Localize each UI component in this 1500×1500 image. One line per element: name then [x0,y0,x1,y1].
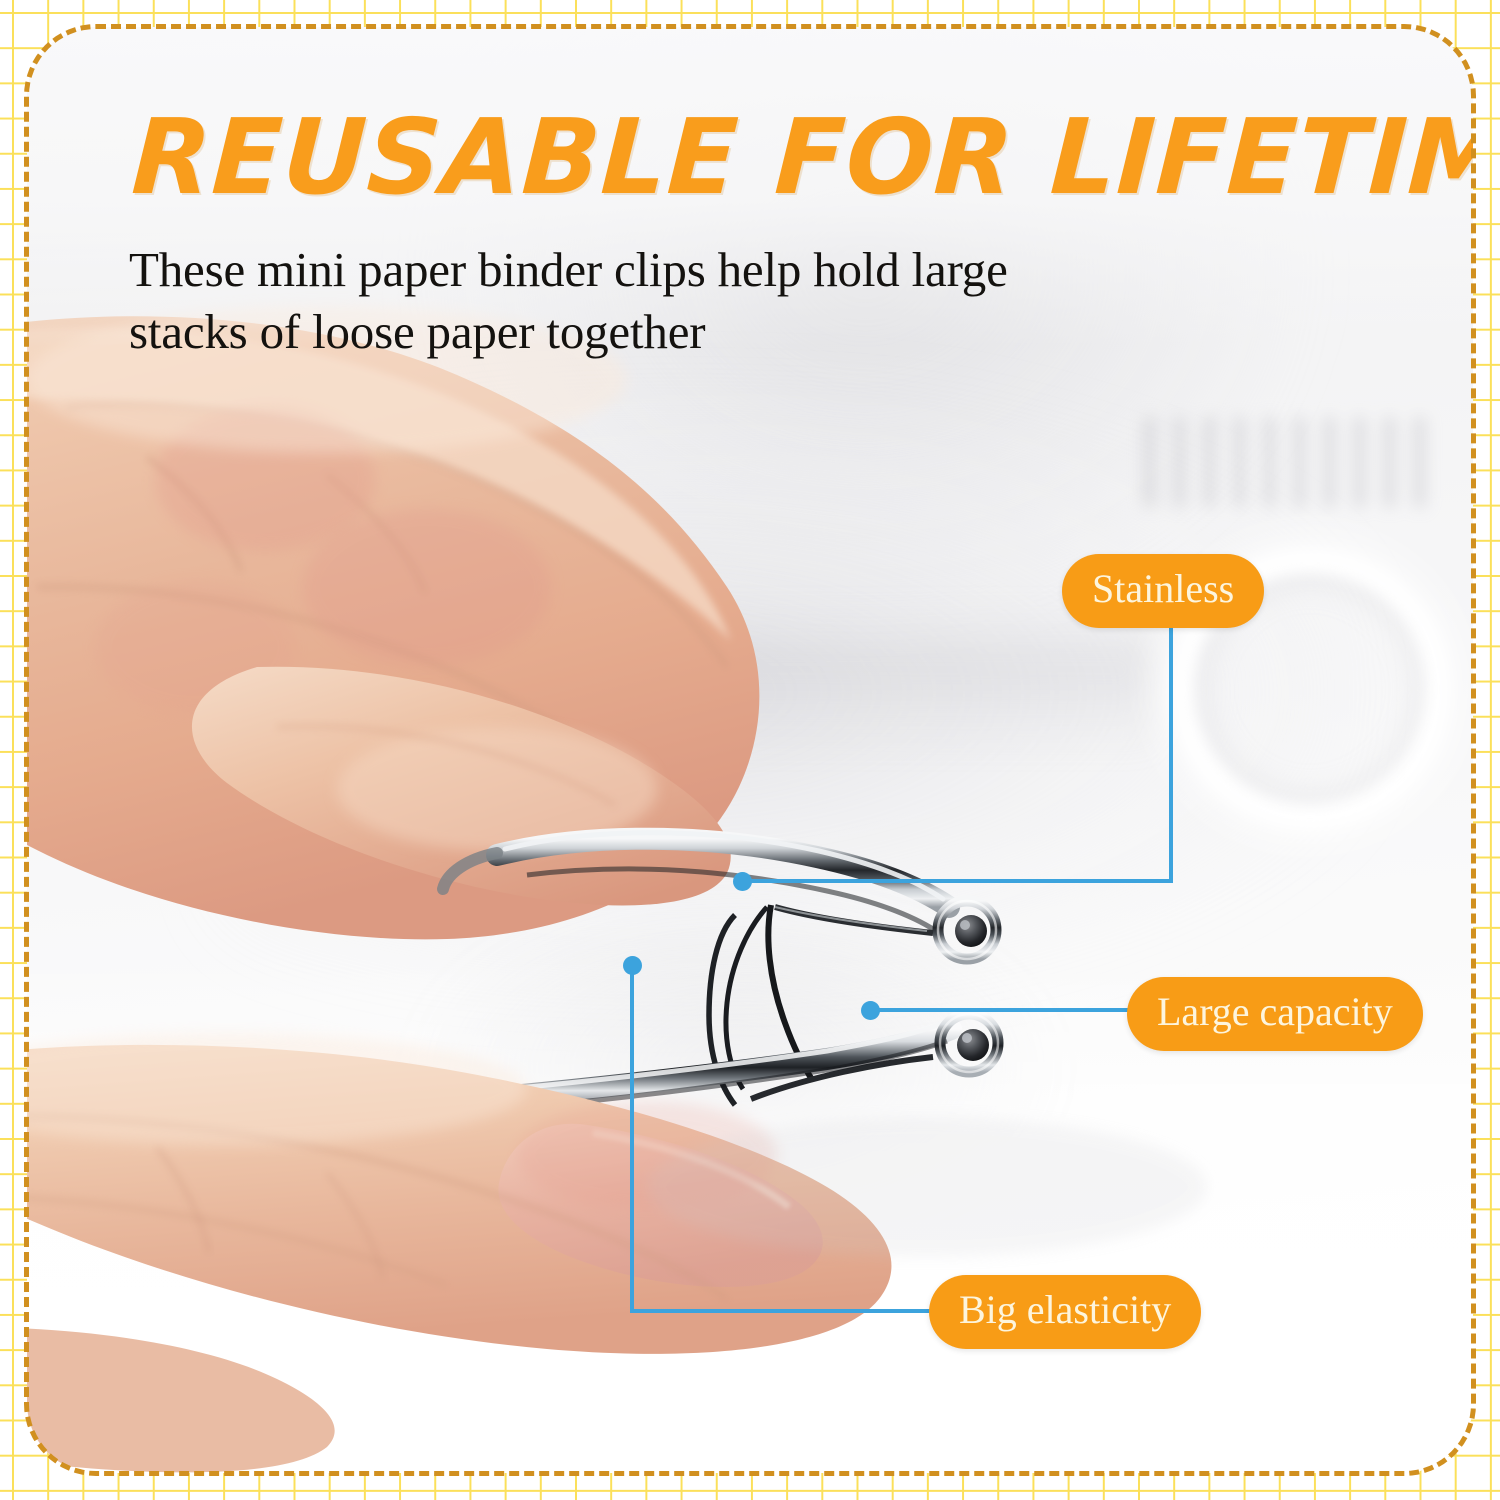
leader-line-big-elasticity-horizontal [630,1309,938,1313]
callout-pill-large-capacity[interactable]: Large capacity [1127,977,1423,1051]
feature-callouts: Stainless Large capacity Big elasticity [27,27,1473,1473]
leader-line-stainless-vertical [1169,621,1173,883]
leader-line-stainless-horizontal [742,879,1173,883]
product-feature-card: REUSABLE FOR LIFETIME These mini paper b… [0,0,1500,1500]
leader-line-large-capacity [870,1008,1132,1012]
callout-pill-big-elasticity[interactable]: Big elasticity [929,1275,1201,1349]
callout-dot-big-elasticity [623,956,642,975]
leader-line-big-elasticity-vertical [630,965,634,1313]
callout-pill-stainless[interactable]: Stainless [1062,554,1264,628]
callout-dot-stainless [733,872,752,891]
callout-dot-large-capacity [861,1001,880,1020]
product-photo-card: REUSABLE FOR LIFETIME These mini paper b… [27,27,1473,1473]
